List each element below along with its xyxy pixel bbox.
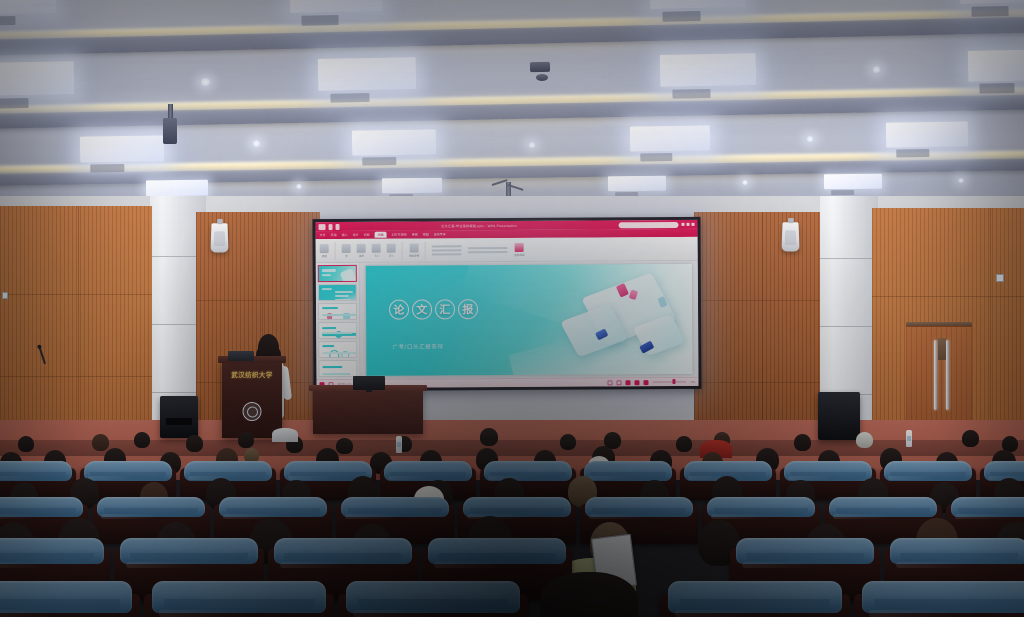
recessed-panel-light bbox=[146, 180, 208, 197]
ribbon-label: 动画窗格 bbox=[409, 253, 419, 257]
slide-thumbnail-1[interactable] bbox=[318, 265, 357, 282]
ribbon-divider bbox=[402, 241, 403, 259]
ribbon-options-list[interactable] bbox=[432, 245, 462, 255]
slide-subtitle: 广考/口头汇报答辩 bbox=[392, 342, 443, 350]
audience-head bbox=[186, 435, 203, 452]
auditorium-seat bbox=[660, 594, 850, 617]
ppt-workspace[interactable]: 论 文 汇 报 广考/口头汇报答辩 bbox=[316, 261, 699, 379]
reading-view-icon[interactable] bbox=[607, 380, 612, 385]
zoom-level[interactable]: 78% bbox=[690, 380, 695, 383]
wall-mounted-loudspeaker bbox=[210, 223, 228, 252]
wood-acoustic-panel bbox=[694, 212, 826, 446]
seat-cushion bbox=[668, 581, 843, 613]
tab-slideshow[interactable]: 幻灯片放映 bbox=[392, 233, 407, 237]
university-emblem bbox=[243, 402, 262, 421]
ribbon-label: 浮入 bbox=[389, 253, 394, 257]
slide-title-char: 论 bbox=[389, 300, 409, 320]
animation-pane-icon[interactable] bbox=[409, 243, 418, 252]
ceiling-sensor bbox=[536, 74, 548, 81]
ribbon-label: 淡出 bbox=[359, 253, 364, 257]
slide-thumbnail-2[interactable] bbox=[318, 284, 357, 301]
round-downlight bbox=[528, 142, 536, 148]
slide-thumbnail-6[interactable] bbox=[318, 360, 357, 377]
round-downlight bbox=[252, 140, 261, 147]
smart-animation-icon[interactable] bbox=[515, 242, 524, 251]
animation-none-icon[interactable] bbox=[342, 243, 351, 252]
audience-head bbox=[92, 434, 109, 451]
door-handle[interactable] bbox=[934, 340, 937, 410]
notes-icon[interactable] bbox=[625, 380, 630, 385]
ceiling bbox=[0, 0, 1024, 222]
seat-cushion bbox=[862, 581, 1024, 613]
tab-insert[interactable]: 插入 bbox=[342, 233, 348, 237]
ribbon-group-fade[interactable]: 淡出 bbox=[357, 243, 366, 257]
current-slide[interactable]: 论 文 汇 报 广考/口头汇报答辩 bbox=[366, 264, 693, 376]
slideshow-play-icon[interactable] bbox=[643, 380, 648, 385]
round-downlight bbox=[872, 66, 881, 73]
preview-icon[interactable] bbox=[320, 244, 329, 253]
recessed-panel-light bbox=[608, 176, 666, 192]
audience-head bbox=[480, 428, 498, 446]
door-handle[interactable] bbox=[946, 340, 949, 410]
confidence-monitor bbox=[353, 376, 385, 390]
audience-head bbox=[676, 436, 692, 452]
tab-transition[interactable]: 切换 bbox=[364, 233, 370, 237]
seat-cushion bbox=[0, 581, 132, 613]
minimize-icon[interactable] bbox=[682, 223, 685, 226]
ribbon-group-flyin[interactable]: 飞入 bbox=[372, 243, 381, 257]
save-icon[interactable] bbox=[319, 224, 326, 230]
auditorium-scene: 论文汇报-毕业答辩模板.pptx - WPS Presentation 文件 开… bbox=[0, 0, 1024, 617]
animation-fade-icon[interactable] bbox=[357, 243, 366, 252]
auditorium-seat bbox=[144, 594, 334, 617]
auditorium-seat bbox=[0, 594, 140, 617]
ribbon-group-none[interactable]: 无 bbox=[342, 243, 351, 257]
ribbon-group-floatin[interactable]: 浮入 bbox=[387, 243, 396, 257]
tab-animation[interactable]: 动画 bbox=[375, 232, 387, 238]
wall-plate-left bbox=[2, 292, 8, 299]
search-input[interactable] bbox=[619, 221, 679, 227]
water-bottle bbox=[906, 430, 912, 447]
outline-view-icon[interactable] bbox=[616, 380, 621, 385]
ribbon-label: 预览 bbox=[322, 254, 327, 258]
ribbon-group-smart[interactable]: 智能动画 bbox=[514, 242, 524, 256]
wood-acoustic-panel bbox=[0, 206, 152, 446]
ribbon-option-row[interactable] bbox=[468, 246, 508, 248]
ribbon-option-row[interactable] bbox=[432, 253, 462, 255]
recessed-panel-light bbox=[290, 0, 383, 13]
slide-title: 论 文 汇 报 bbox=[389, 299, 478, 320]
slide-title-char: 文 bbox=[412, 300, 432, 320]
maximize-icon[interactable] bbox=[687, 223, 690, 226]
slide-thumbnail-5[interactable] bbox=[318, 341, 357, 358]
seat-cushion bbox=[0, 538, 104, 564]
auditorium-seat bbox=[854, 594, 1024, 617]
recessed-panel-light bbox=[630, 125, 710, 151]
seat-cushion bbox=[736, 538, 874, 564]
zoom-slider[interactable] bbox=[652, 381, 686, 383]
audience-head bbox=[560, 434, 576, 450]
seat-cushion bbox=[274, 538, 412, 564]
audience-shoulders bbox=[272, 428, 298, 442]
seat-cushion bbox=[152, 581, 327, 613]
wall-plate-right bbox=[996, 274, 1004, 282]
audience-seating bbox=[0, 430, 1024, 617]
powerpoint-application[interactable]: 论文汇报-毕业答辩模板.pptx - WPS Presentation 文件 开… bbox=[315, 220, 698, 388]
tab-file[interactable]: 文件 bbox=[320, 233, 326, 237]
recessed-panel-light bbox=[660, 53, 757, 87]
round-downlight bbox=[296, 184, 302, 189]
tab-design[interactable]: 设计 bbox=[353, 233, 359, 237]
audience-head bbox=[856, 432, 873, 448]
ribbon-group-pane[interactable]: 动画窗格 bbox=[409, 243, 419, 257]
seat-cushion bbox=[890, 538, 1024, 564]
slide-title-char: 汇 bbox=[435, 299, 455, 319]
recessed-panel-light bbox=[0, 61, 74, 96]
speaker-grille bbox=[166, 418, 192, 425]
ribbon-label: 智能动画 bbox=[514, 252, 524, 256]
auditorium-seat bbox=[338, 594, 528, 617]
close-icon[interactable] bbox=[692, 223, 695, 226]
wall-mounted-loudspeaker bbox=[781, 222, 799, 251]
slide-title-char: 报 bbox=[458, 299, 478, 319]
recessed-panel-light bbox=[352, 129, 436, 155]
ribbon-label: 无 bbox=[345, 253, 348, 257]
ribbon-options-list-2[interactable] bbox=[468, 246, 508, 252]
projection-screen[interactable]: 论文汇报-毕业答辩模板.pptx - WPS Presentation 文件 开… bbox=[312, 217, 701, 391]
podium-laptop bbox=[228, 351, 254, 361]
water-bottle bbox=[396, 436, 402, 453]
auditorium-seat bbox=[880, 468, 976, 500]
round-downlight bbox=[806, 136, 814, 142]
ribbon-option-row[interactable] bbox=[468, 250, 508, 252]
audience-head bbox=[336, 438, 353, 454]
slide-thumbnail-panel[interactable] bbox=[316, 263, 361, 379]
round-downlight bbox=[958, 178, 964, 183]
recessed-panel-light bbox=[960, 0, 1024, 4]
recessed-panel-light bbox=[824, 174, 882, 190]
ribbon-option-row[interactable] bbox=[432, 249, 462, 251]
comment-icon[interactable] bbox=[634, 380, 639, 385]
undo-icon[interactable] bbox=[329, 224, 333, 230]
audience-head bbox=[134, 432, 150, 448]
animation-floatin-icon[interactable] bbox=[387, 243, 396, 252]
door-lock-plate bbox=[938, 338, 946, 360]
monitor-stand bbox=[366, 389, 372, 392]
slide-editing-stage[interactable]: 论 文 汇 报 广考/口头汇报答辩 bbox=[360, 261, 699, 379]
window-controls[interactable] bbox=[682, 223, 695, 226]
ceiling-air-diffuser bbox=[530, 62, 550, 72]
seat-cushion bbox=[120, 538, 258, 564]
recessed-panel-light bbox=[382, 178, 442, 194]
round-downlight bbox=[200, 78, 211, 86]
tab-view[interactable]: 视图 bbox=[423, 232, 429, 236]
ppt-ribbon[interactable]: 预览 无 淡出 飞入 浮入 bbox=[316, 237, 698, 263]
ceiling-mounted-device bbox=[163, 118, 177, 144]
redo-icon[interactable] bbox=[336, 224, 340, 230]
audience-head bbox=[18, 436, 34, 452]
audience-head bbox=[962, 430, 979, 447]
ribbon-label: 飞入 bbox=[374, 253, 379, 257]
ribbon-divider bbox=[335, 242, 336, 260]
audience-head-foreground bbox=[540, 572, 638, 617]
tab-review[interactable]: 审阅 bbox=[412, 233, 418, 237]
round-downlight bbox=[742, 180, 748, 185]
recessed-panel-light bbox=[650, 0, 747, 9]
recessed-panel-light bbox=[886, 121, 968, 147]
recessed-panel-light bbox=[318, 57, 417, 91]
ribbon-group-preview[interactable]: 预览 bbox=[320, 244, 329, 258]
slide-thumbnail-3[interactable] bbox=[318, 303, 357, 320]
document-title: 论文汇报-毕业答辩模板.pptx - WPS Presentation bbox=[343, 222, 616, 229]
door-header-bar bbox=[906, 322, 972, 326]
animation-flyin-icon[interactable] bbox=[372, 243, 381, 252]
tab-home[interactable]: 开始 bbox=[331, 233, 337, 237]
ribbon-divider bbox=[425, 241, 426, 259]
podium-university-name: 武汉纺织大学 bbox=[222, 369, 282, 379]
recessed-panel-light bbox=[0, 0, 56, 15]
audience-head bbox=[794, 434, 811, 451]
ribbon-option-row[interactable] bbox=[432, 245, 462, 247]
tab-member[interactable]: 会员专享 bbox=[434, 232, 446, 236]
presentation-table bbox=[313, 388, 423, 434]
slide-thumbnail-4[interactable] bbox=[318, 322, 357, 339]
seat-cushion bbox=[346, 581, 521, 613]
recessed-panel-light bbox=[80, 135, 164, 162]
lectern-podium: 武汉纺织大学 bbox=[222, 360, 282, 438]
recessed-panel-light bbox=[968, 49, 1024, 82]
seat-cushion bbox=[428, 538, 566, 564]
audience-head bbox=[238, 432, 254, 448]
